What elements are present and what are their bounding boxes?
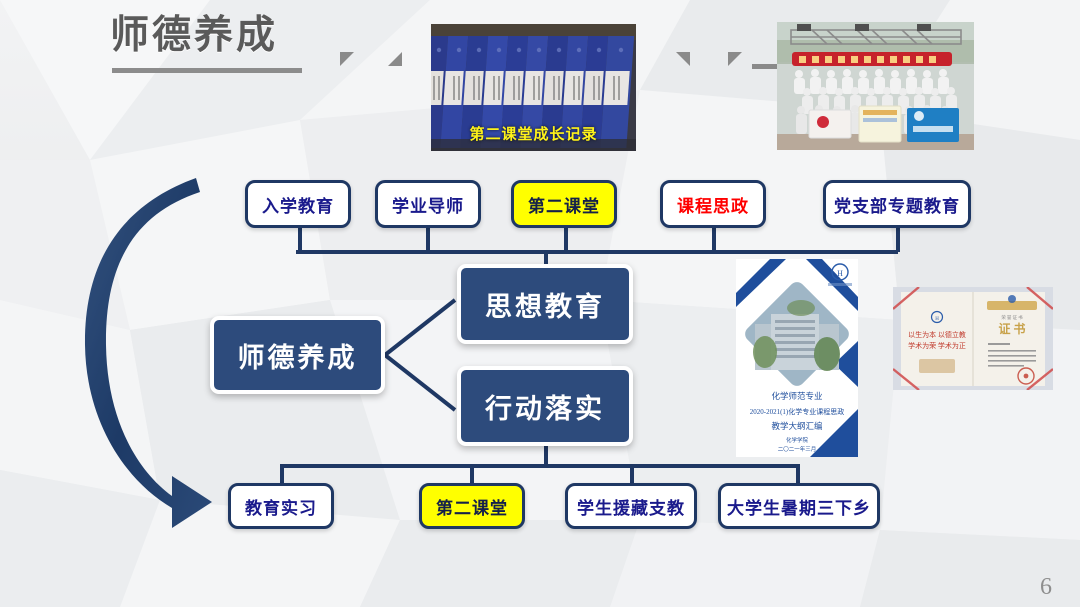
svg-text:荣 誉 证 书: 荣 誉 证 书 [1001, 314, 1023, 321]
branch-node-1-label: 思想教育 [485, 285, 605, 324]
connector-top-1 [298, 228, 302, 252]
node-top-5-label: 党支部专题教育 [834, 192, 960, 217]
svg-text:H: H [837, 269, 843, 278]
svg-text:二〇二一年三月: 二〇二一年三月 [778, 445, 817, 453]
root-node-label: 师德养成 [238, 336, 358, 375]
node-bottom-2[interactable]: 第二课堂 [419, 483, 525, 529]
node-top-3[interactable]: 第二课堂 [511, 180, 617, 228]
connector-bottom-2 [470, 464, 474, 484]
svg-text:学术为荣 学术为正: 学术为荣 学术为正 [908, 341, 966, 350]
connector-top-5 [896, 228, 900, 252]
slide: 师德养成 [0, 0, 1080, 607]
connector-top-4 [712, 228, 716, 252]
page-number: 6 [1040, 574, 1052, 601]
node-top-1-label: 入学教育 [262, 192, 334, 217]
blue-binders-photo: 第二课堂成长记录 [431, 24, 636, 151]
node-bottom-3-label: 学生援藏支教 [577, 494, 685, 519]
certificate-photo: H 以生为本 以德立教 学术为荣 学术为正 荣 誉 证 书 证 书 [893, 287, 1053, 390]
page-title: 师德养成 [110, 14, 278, 59]
triangle-decor-icon-1 [340, 52, 354, 66]
node-top-5[interactable]: 党支部专题教育 [823, 180, 971, 228]
node-bottom-2-label: 第二课堂 [436, 494, 508, 519]
node-top-4-label: 课程思政 [677, 192, 749, 217]
node-top-3-label: 第二课堂 [528, 192, 600, 217]
node-bottom-4[interactable]: 大学生暑期三下乡 [718, 483, 880, 529]
node-top-2[interactable]: 学业导师 [375, 180, 481, 228]
svg-text:化学学院: 化学学院 [786, 436, 809, 444]
connector-bottom-3 [630, 464, 634, 484]
group-photo [777, 22, 974, 150]
triangle-decor-icon-3 [676, 52, 690, 66]
svg-text:化学师范专业: 化学师范专业 [771, 391, 822, 401]
svg-text:H: H [935, 317, 939, 322]
node-bottom-1[interactable]: 教育实习 [228, 483, 334, 529]
node-bottom-4-label: 大学生暑期三下乡 [727, 494, 871, 519]
svg-text:教学大纲汇编: 教学大纲汇编 [771, 421, 822, 431]
connector-top-bus [296, 250, 898, 254]
syllabus-cover-photo: H 化学师范专 [736, 259, 858, 457]
title-underline [112, 68, 302, 73]
triangle-decor-icon-4 [728, 52, 742, 66]
svg-text:证 书: 证 书 [998, 321, 1025, 336]
connector-bottom-1 [280, 464, 284, 484]
branch-node-2[interactable]: 行动落实 [457, 366, 633, 446]
node-top-1[interactable]: 入学教育 [245, 180, 351, 228]
page-title-wrap: 师德养成 [110, 14, 278, 59]
connector-top-3 [564, 228, 568, 252]
connector-bottom-4 [796, 464, 800, 484]
blue-binders-caption: 第二课堂成长记录 [431, 123, 636, 144]
triangle-decor-icon-2 [388, 52, 402, 66]
branch-node-2-label: 行动落实 [485, 387, 605, 426]
node-top-4[interactable]: 课程思政 [660, 180, 766, 228]
connector-bottom-bus [280, 464, 800, 468]
node-bottom-3[interactable]: 学生援藏支教 [565, 483, 697, 529]
branch-node-1[interactable]: 思想教育 [457, 264, 633, 344]
svg-text:2020-2021(1)化学专业课程思政: 2020-2021(1)化学专业课程思政 [750, 407, 845, 416]
connector-top-2 [426, 228, 430, 252]
node-bottom-1-label: 教育实习 [245, 494, 317, 519]
root-node[interactable]: 师德养成 [210, 316, 385, 394]
svg-text:以生为本 以德立教: 以生为本 以德立教 [908, 330, 966, 339]
node-top-2-label: 学业导师 [392, 192, 464, 217]
